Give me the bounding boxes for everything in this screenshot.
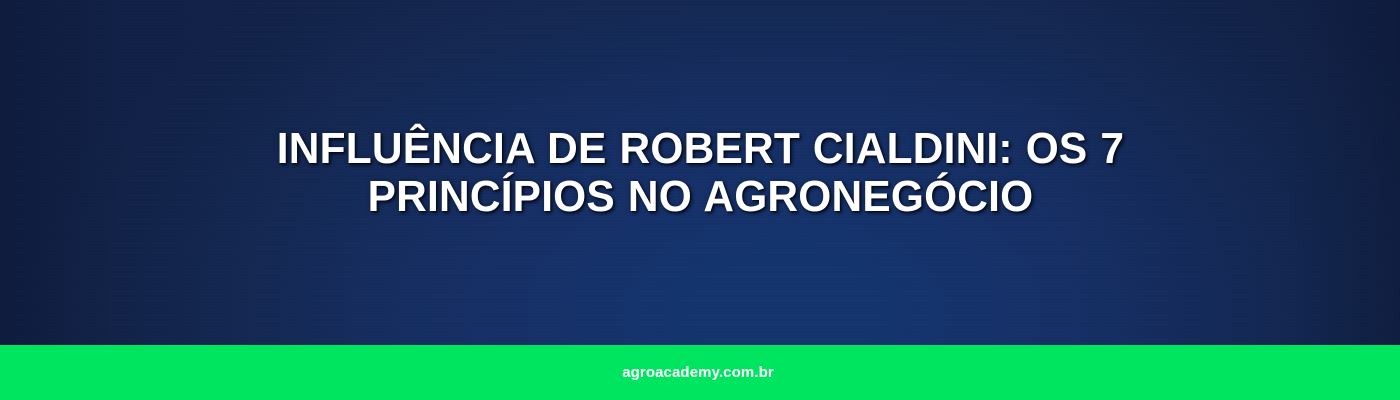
article-header-banner: INFLUÊNCIA DE ROBERT CIALDINI: OS 7 PRIN… — [0, 0, 1400, 400]
page-title-line-2: AGRONEGÓCIO — [703, 172, 1033, 221]
page-title: INFLUÊNCIA DE ROBERT CIALDINI: OS 7 PRIN… — [186, 125, 1214, 221]
banner-footer-bar: agroacademy.com.br — [0, 345, 1400, 400]
banner-title-area: INFLUÊNCIA DE ROBERT CIALDINI: OS 7 PRIN… — [0, 0, 1400, 345]
site-domain-label: agroacademy.com.br — [622, 365, 774, 380]
